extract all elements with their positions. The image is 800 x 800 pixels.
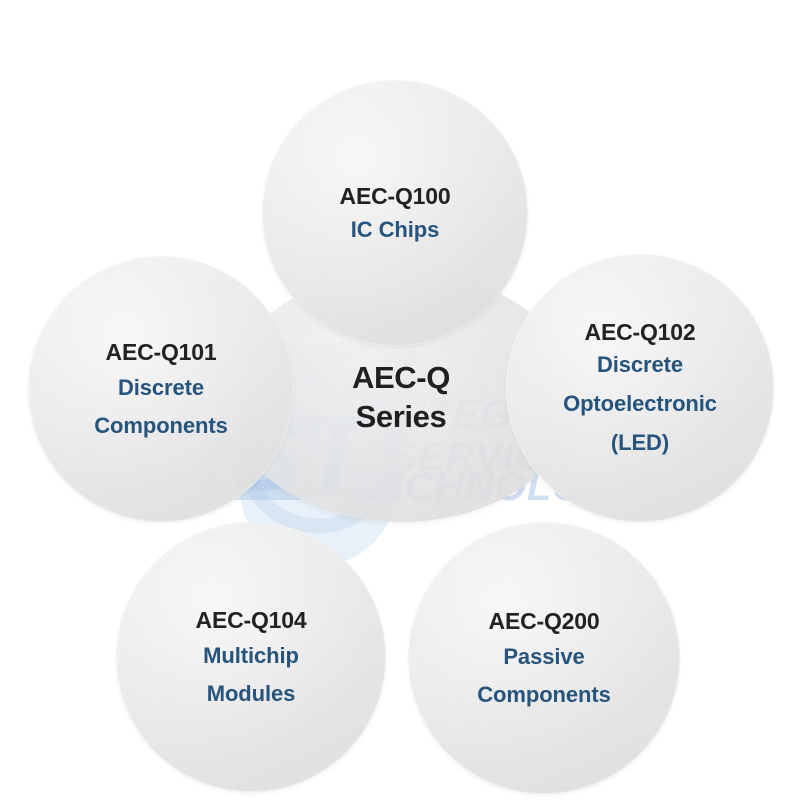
desc-line: IC Chips [351,217,439,242]
bubble-aec-q102[interactable]: AEC-Q102 Discrete Optoelectronic (LED) [506,254,774,522]
bubble-code-q100: AEC-Q100 [340,183,451,210]
bubble-code-q102: AEC-Q102 [585,319,696,346]
center-label-line2: Series [352,397,450,436]
bubble-code-q104: AEC-Q104 [196,607,307,634]
bubble-description-q104: Multichip Modules [203,643,299,708]
bubble-aec-q101[interactable]: AEC-Q101 Discrete Components [28,256,294,522]
center-label: AEC-Q Series [352,358,450,436]
desc-line: Components [477,682,610,709]
bubble-code-q101: AEC-Q101 [106,339,217,366]
desc-line: Components [94,413,227,440]
bubble-aec-q104[interactable]: AEC-Q104 Multichip Modules [116,522,386,792]
bubble-description-q101: Discrete Components [94,375,227,440]
desc-line: Passive [503,644,584,669]
desc-line: Multichip [203,643,299,668]
desc-line: Discrete [597,352,683,377]
desc-line: (LED) [563,429,717,457]
desc-line: Modules [203,681,299,708]
bubble-aec-q200[interactable]: AEC-Q200 Passive Components [408,522,680,794]
desc-line: Discrete [118,375,204,400]
bubble-description-q100: IC Chips [351,217,439,244]
bubble-aec-q100[interactable]: AEC-Q100 IC Chips [262,80,528,346]
center-label-line1: AEC-Q [352,358,450,397]
bubble-description-q102: Discrete Optoelectronic (LED) [563,351,717,457]
desc-line: Optoelectronic [563,390,717,418]
bubble-code-q200: AEC-Q200 [489,608,600,635]
aec-q-series-diagram: iST INTEGRATED SERVICE TECHNOLOGY AEC-Q … [0,0,800,800]
bubble-description-q200: Passive Components [477,644,610,709]
